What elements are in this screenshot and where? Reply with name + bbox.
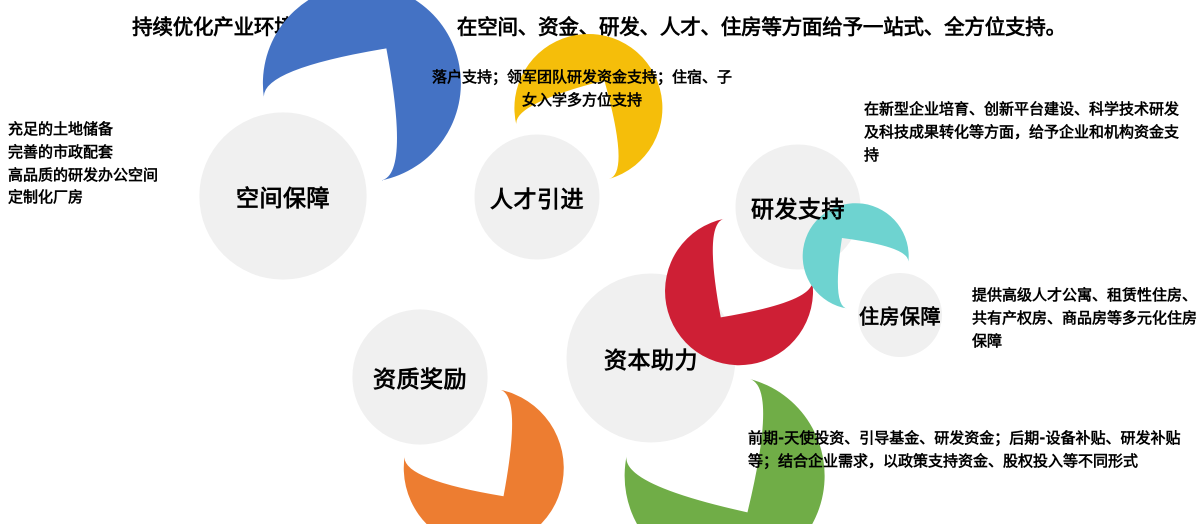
node-label-space: 空间保障 xyxy=(236,179,330,213)
note-line: 完善的市政配套 xyxy=(8,141,198,164)
node-housing[interactable] xyxy=(803,203,942,357)
note-rnd-support: 在新型企业培育、创新平台建设、科学技术研发及科技成果转化等方面，给予企业和机构资… xyxy=(864,98,1186,166)
note-line: 定制化厂房 xyxy=(8,186,198,209)
node-label-housing: 住房保障 xyxy=(859,301,941,330)
note-line: 充足的土地储备 xyxy=(8,118,198,141)
note-space-support: 充足的土地储备 完善的市政配套 高品质的研发办公空间 定制化厂房 xyxy=(8,118,198,209)
note-talent-support: 落户支持；领军团队研发资金支持；住宿、子女入学多方位支持 xyxy=(432,66,732,112)
note-housing-support: 提供高级人才公寓、租赁性住房、共有产权房、商品房等多元化住房保障 xyxy=(972,284,1198,352)
note-capital-support: 前期-天使投资、引导基金、研发资金；后期-设备补贴、研发补贴等；结合企业需求，以… xyxy=(748,427,1188,473)
node-label-qualification: 资质奖励 xyxy=(373,360,467,394)
node-label-capital: 资本助力 xyxy=(604,341,698,375)
node-label-talent: 人才引进 xyxy=(490,180,584,214)
node-label-rnd: 研发支持 xyxy=(751,190,845,224)
diagram-page: 持续优化产业环境，完善政策体系，在空间、资金、研发、人才、住房等方面给予一站式、… xyxy=(0,0,1198,524)
node-space[interactable] xyxy=(199,0,461,280)
note-line: 高品质的研发办公空间 xyxy=(8,164,198,187)
node-qualification[interactable] xyxy=(352,309,563,524)
